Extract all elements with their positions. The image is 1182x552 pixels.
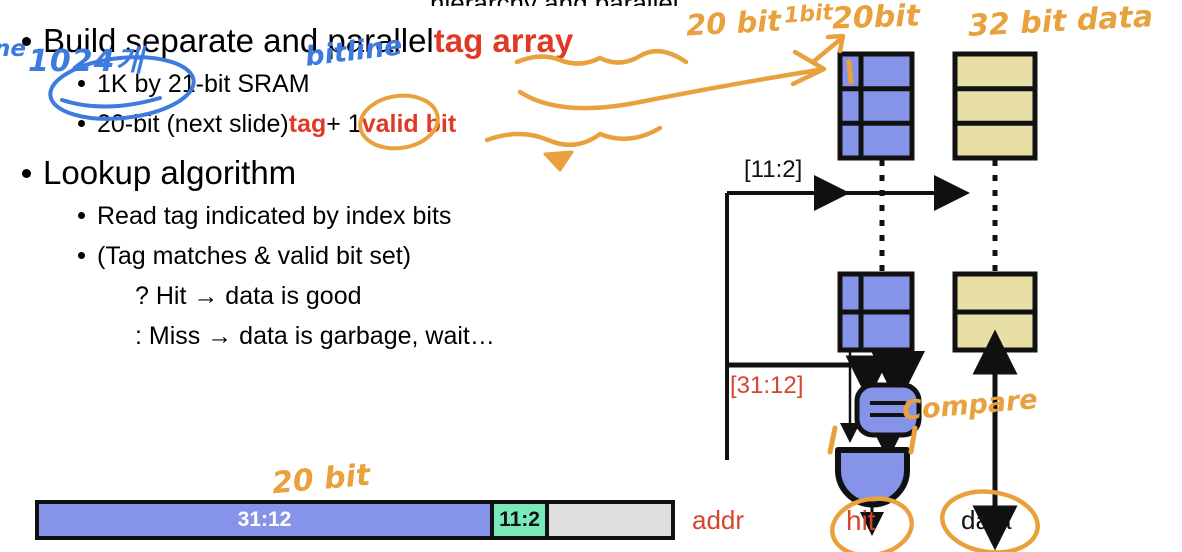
- address-field-offset: [549, 504, 671, 536]
- label-data: data: [961, 505, 1012, 536]
- data-array-upper: [955, 54, 1035, 158]
- orange-valid-bit-tick: [849, 62, 851, 82]
- bullet-text: (Tag matches & valid bit set): [97, 244, 411, 269]
- ink-20-bit-tag-width: 20bit: [831, 0, 920, 37]
- ink-20-bit-addr-bar: 20 bit: [271, 458, 372, 501]
- bullet-lookup-algorithm: Lookup algorithm: [22, 156, 296, 189]
- address-field-tag: 31:12: [39, 504, 494, 536]
- bullet-dot: [78, 252, 85, 259]
- bullet-read-tag-index-bits: Read tag indicated by index bits: [78, 204, 451, 229]
- ink-20-bit-tag-total: 20 bit: [685, 4, 782, 43]
- bullet-dot: [78, 80, 85, 87]
- ink-1024-rows: 1024개: [28, 36, 144, 80]
- and-gate: [838, 450, 907, 505]
- label-tag-bits: [31:12]: [730, 372, 803, 400]
- bullet-dot: [22, 169, 31, 178]
- bullet-text-pre: 20-bit (next slide): [97, 112, 289, 137]
- bullet-text: ? Hit → data is good: [135, 284, 362, 309]
- bullet-text: : Miss → data is garbage, wait…: [135, 324, 495, 349]
- ink-1-bit-valid: 1bit: [783, 0, 834, 28]
- address-bit-field-bar: 31:12 11:2: [35, 500, 675, 540]
- diagram-svg: [680, 0, 1182, 552]
- label-addr: addr: [692, 505, 744, 536]
- tag-array-lower: [840, 274, 912, 350]
- data-array-lower: [955, 274, 1035, 350]
- label-hit: hit: [846, 505, 876, 537]
- orange-tick-one-left: [830, 428, 835, 452]
- keyword-valid-bit: valid bit: [362, 112, 456, 137]
- ink-line-cutoff: ne: [0, 36, 26, 62]
- bullet-dot: [78, 212, 85, 219]
- bullet-miss-case: : Miss → data is garbage, wait…: [135, 324, 495, 349]
- bullet-tag-matches-valid-set: (Tag matches & valid bit set): [78, 244, 411, 269]
- bullet-text: Read tag indicated by index bits: [97, 204, 451, 229]
- bullet-20-bit-tag-plus-valid: 20-bit (next slide) tag + 1 valid bit: [78, 112, 456, 137]
- keyword-tag-array: tag array: [434, 24, 573, 57]
- label-index-bits: [11:2]: [744, 156, 802, 184]
- cache-lookup-diagram: [11:2] [31:12] addr hit data 20 bit 1bit…: [680, 0, 1182, 552]
- keyword-tag: tag: [289, 112, 327, 137]
- bullet-dot: [78, 120, 85, 127]
- address-field-index: 11:2: [494, 504, 549, 536]
- bullet-text: Lookup algorithm: [43, 156, 296, 189]
- bullet-hit-case: ? Hit → data is good: [135, 284, 362, 309]
- bullet-text-mid: + 1: [326, 112, 361, 137]
